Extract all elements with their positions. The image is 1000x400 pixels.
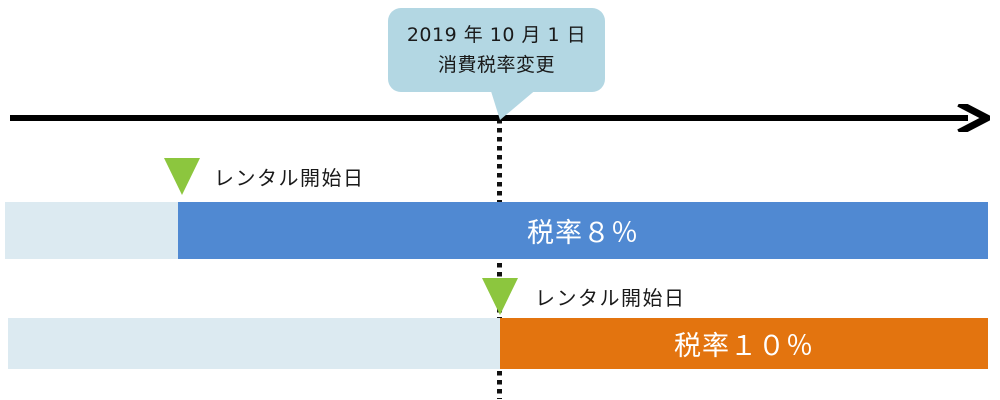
bubble-line-event: 消費税率変更 <box>438 50 555 80</box>
tax-change-annotation-bubble: 2019 年 10 月 1 日 消費税率変更 <box>388 8 605 92</box>
tax-rate-timeline-diagram: 2019 年 10 月 1 日 消費税率変更 レンタル開始日 税率８％ レンタル… <box>0 0 1000 400</box>
speech-bubble-tail-icon <box>490 88 560 122</box>
tax-rate-bar-10: 税率１０％ <box>8 318 988 369</box>
tax-rate-segment-10: 税率１０％ <box>500 318 988 369</box>
bubble-line-date: 2019 年 10 月 1 日 <box>407 20 586 50</box>
rental-start-label: レンタル開始日 <box>535 282 686 311</box>
pre-rental-segment-10 <box>8 318 500 369</box>
rental-start-triangle-icon <box>482 278 518 315</box>
rental-start-marker-10: レンタル開始日 <box>482 278 882 318</box>
tax-rate-label-10: 税率１０％ <box>674 324 814 363</box>
